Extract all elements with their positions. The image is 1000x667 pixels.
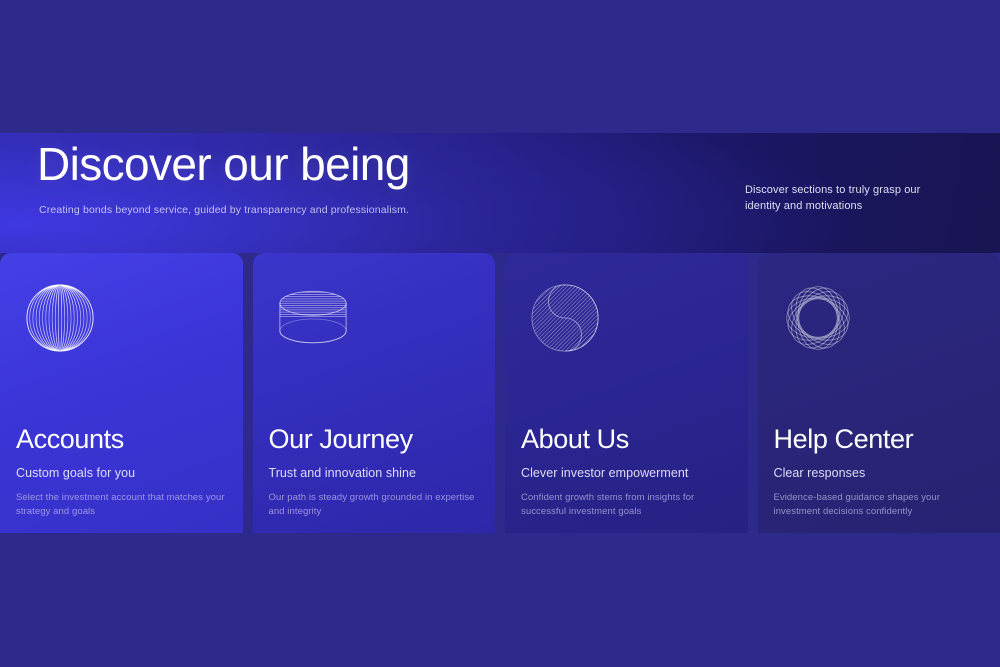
hero-subtitle: Creating bonds beyond service, guided by… bbox=[39, 203, 409, 219]
cylinder-stripes-icon bbox=[267, 272, 359, 364]
feature-card-accounts[interactable]: Accounts Custom goals for you Select the… bbox=[0, 253, 243, 533]
card-subtitle: Clever investor empowerment bbox=[521, 465, 734, 481]
torus-rings-icon bbox=[772, 272, 864, 364]
card-description: Our path is steady growth grounded in ex… bbox=[269, 491, 482, 520]
card-text-block: Help Center Clear responses Evidence-bas… bbox=[774, 423, 987, 520]
card-subtitle: Custom goals for you bbox=[16, 465, 229, 481]
feature-card-our-journey[interactable]: Our Journey Trust and innovation shine O… bbox=[253, 253, 496, 533]
card-description: Evidence-based guidance shapes your inve… bbox=[774, 491, 987, 520]
split-circle-hatch-icon bbox=[519, 272, 611, 364]
card-text-block: Accounts Custom goals for you Select the… bbox=[16, 423, 229, 520]
card-title: About Us bbox=[521, 423, 734, 455]
card-subtitle: Trust and innovation shine bbox=[269, 465, 482, 481]
sphere-meridians-icon bbox=[14, 272, 106, 364]
card-text-block: Our Journey Trust and innovation shine O… bbox=[269, 423, 482, 520]
card-artwork bbox=[0, 253, 243, 383]
card-description: Select the investment account that match… bbox=[16, 491, 229, 520]
top-background-band bbox=[0, 0, 1000, 133]
hero-section: Discover our being Creating bonds beyond… bbox=[0, 133, 1000, 253]
card-description: Confident growth stems from insights for… bbox=[521, 491, 734, 520]
card-artwork bbox=[758, 253, 1000, 383]
card-artwork bbox=[505, 253, 748, 383]
feature-card-about-us[interactable]: About Us Clever investor empowerment Con… bbox=[505, 253, 748, 533]
card-subtitle: Clear responses bbox=[774, 465, 987, 481]
feature-card-list: Accounts Custom goals for you Select the… bbox=[0, 253, 1000, 533]
hero-aside-text: Discover sections to truly grasp our ide… bbox=[745, 183, 945, 215]
card-artwork bbox=[253, 253, 496, 383]
page-title: Discover our being bbox=[37, 136, 410, 194]
feature-card-help-center[interactable]: Help Center Clear responses Evidence-bas… bbox=[758, 253, 1000, 533]
card-title: Help Center bbox=[774, 423, 987, 455]
page-root: Discover our being Creating bonds beyond… bbox=[0, 0, 1000, 667]
card-text-block: About Us Clever investor empowerment Con… bbox=[521, 423, 734, 520]
card-title: Accounts bbox=[16, 423, 229, 455]
bottom-background-band bbox=[0, 533, 1000, 667]
card-title: Our Journey bbox=[269, 423, 482, 455]
